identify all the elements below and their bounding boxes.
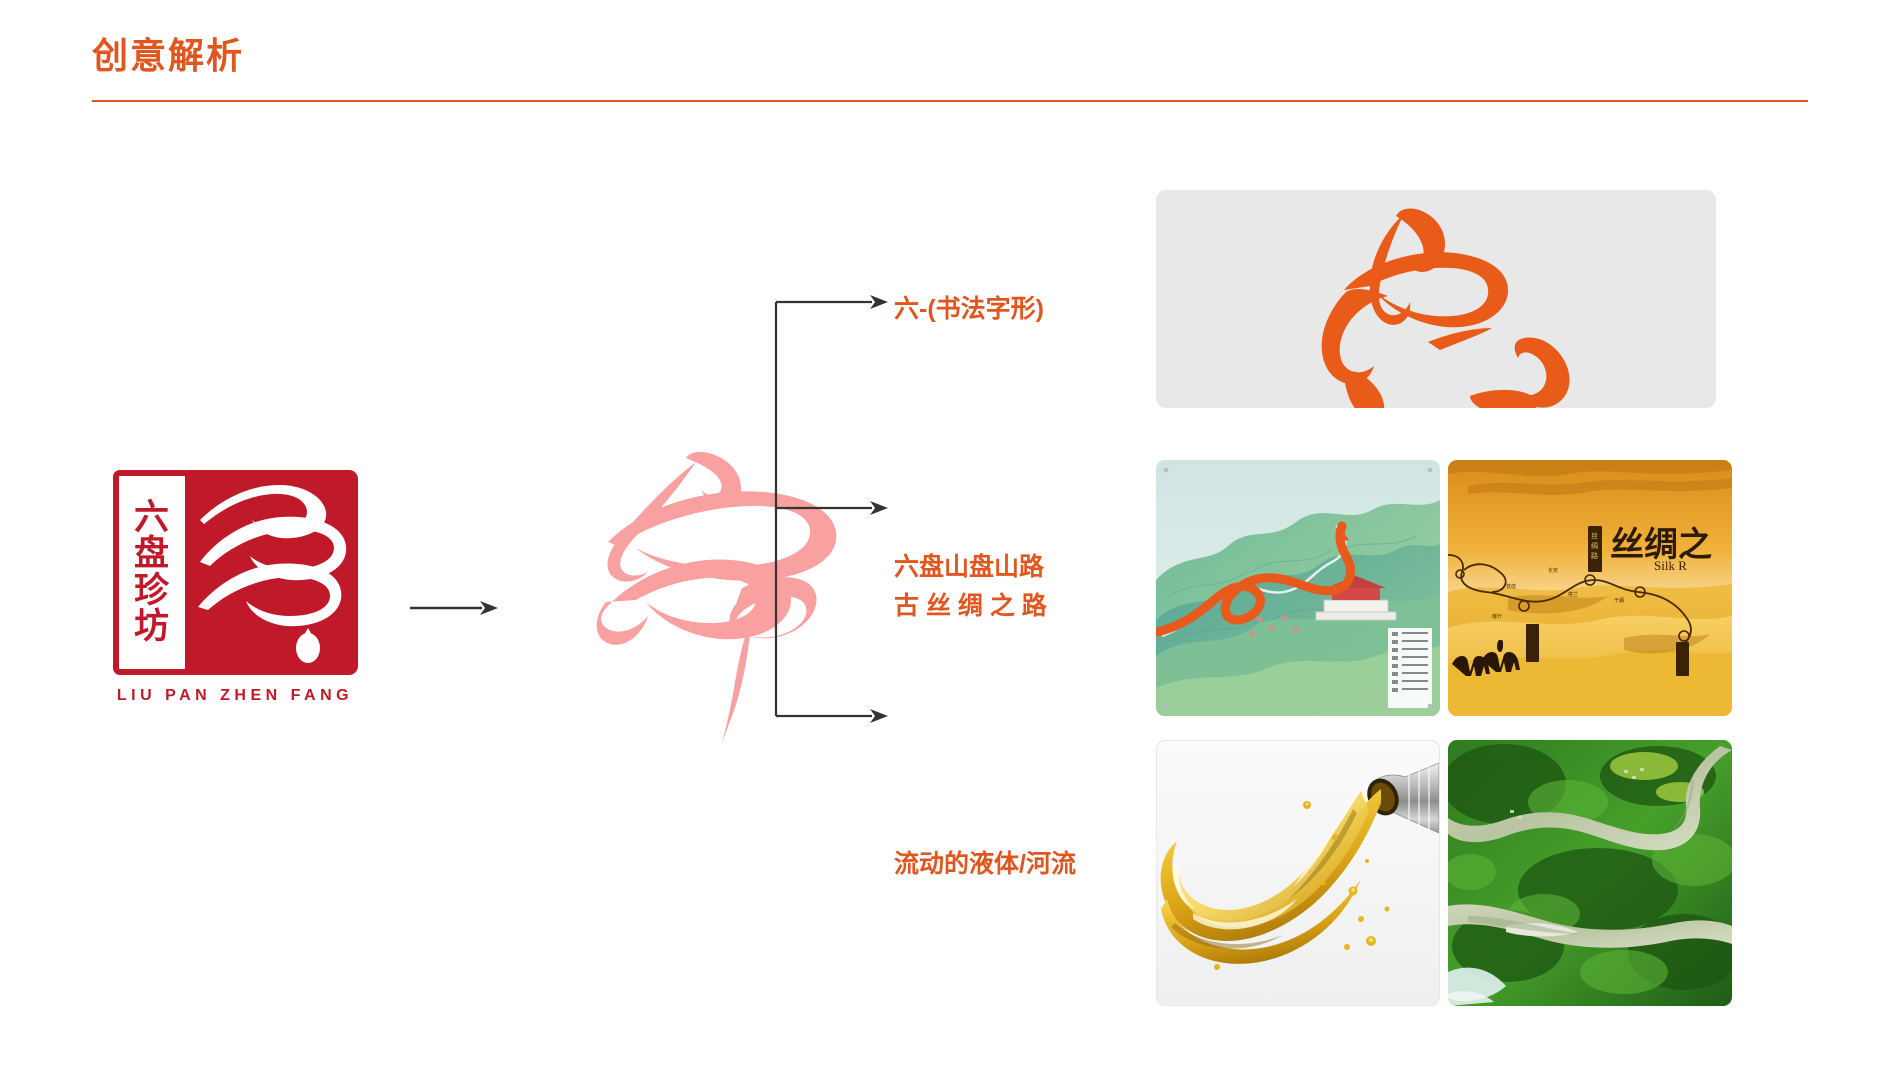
silk-road-title-en: Silk R [1654,558,1687,573]
seal-char-1: 六 [134,501,169,535]
calligraphy-char-six [1322,209,1570,408]
branch-label-calligraphy: 六-(书法字形) [894,290,1044,329]
logo-pinyin: LIU PAN ZHEN FANG [100,687,370,705]
svg-text:绸: 绸 [1591,541,1598,550]
seal-char-4: 坊 [134,610,169,644]
svg-text:路: 路 [1591,551,1598,560]
thumbnail-mountain-map [1156,460,1440,716]
page-title: 创意解析 [92,38,244,74]
seal-char-3: 珍 [134,574,169,608]
arrow-right-icon [410,598,500,618]
branch-label-line2: 古 丝 绸 之 路 [894,587,1047,626]
svg-text:长安: 长安 [1548,567,1558,574]
thumbnail-river [1448,740,1732,1006]
branch-label-line1: 六盘山盘山路 [894,548,1047,587]
svg-text:楼兰: 楼兰 [1568,591,1578,598]
svg-text:于阗: 于阗 [1614,597,1624,604]
svg-text:敦煌: 敦煌 [1506,583,1516,590]
thumbnail-silk-road: 丝绸路 丝绸之 Silk R 长安敦煌 楼兰于阗 喀什 [1448,460,1732,716]
logo-seal: 六 盘 珍 坊 [108,470,363,675]
svg-text:喀什: 喀什 [1492,613,1502,620]
calligraphy-panel [1156,190,1716,408]
branch-label-mountain-road: 六盘山盘山路 古 丝 绸 之 路 [894,548,1047,626]
seal-brush-script [186,470,358,675]
title-divider [92,100,1808,102]
seal-char-2: 盘 [134,537,169,571]
brand-logo: 六 盘 珍 坊 LIU PAN ZHEN FANG [100,470,370,730]
seal-vertical-text: 六 盘 珍 坊 [113,470,191,675]
thumbnail-oil-pour [1156,740,1440,1006]
svg-text:丝: 丝 [1591,531,1598,540]
branch-label-liquid-river: 流动的液体/河流 [894,845,1076,884]
